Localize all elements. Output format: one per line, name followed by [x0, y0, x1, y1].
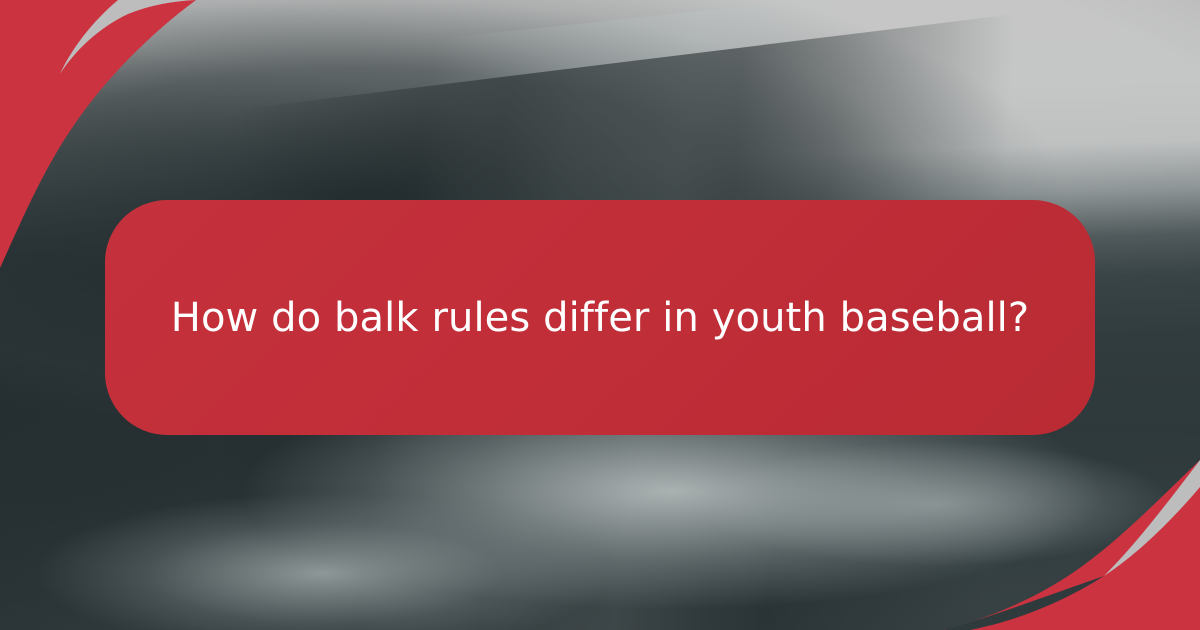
headline-card: How do balk rules differ in youth baseba…	[105, 200, 1095, 435]
page-title: How do balk rules differ in youth baseba…	[171, 293, 1029, 343]
share-card-canvas: How do balk rules differ in youth baseba…	[0, 0, 1200, 630]
